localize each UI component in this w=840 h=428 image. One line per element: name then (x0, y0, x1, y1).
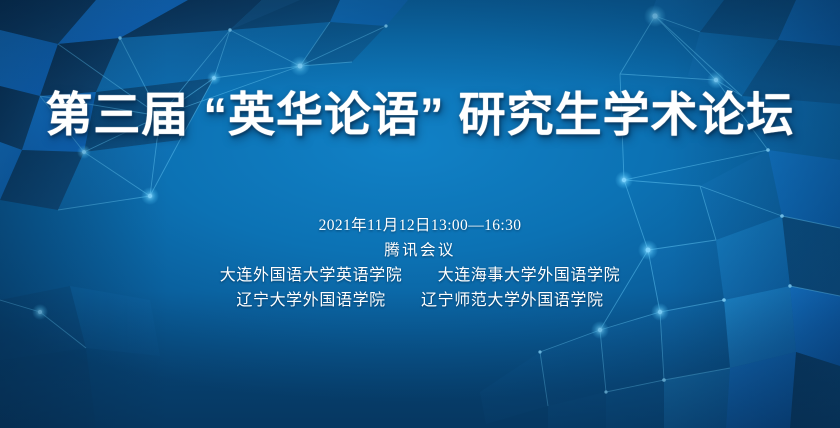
event-venue: 腾讯会议 (0, 238, 840, 263)
info-block: 2021年11月12日13:00—16:30 腾讯会议 大连外国语大学英语学院 … (0, 213, 840, 313)
organizer-left-2: 辽宁大学外国语学院 (236, 292, 385, 309)
organizer-right-1: 大连海事大学外国语学院 (438, 267, 621, 284)
title-block: 第三届 “英华论语” 研究生学术论坛 (0, 88, 840, 143)
conference-banner: 第三届 “英华论语” 研究生学术论坛 2021年11月12日13:00—16:3… (0, 0, 840, 428)
organizer-left-1: 大连外国语大学英语学院 (220, 267, 403, 284)
organizer-row-2: 辽宁大学外国语学院 辽宁师范大学外国语学院 (0, 288, 840, 313)
page-title: 第三届 “英华论语” 研究生学术论坛 (0, 88, 840, 143)
event-datetime: 2021年11月12日13:00—16:30 (0, 213, 840, 238)
organizer-right-2: 辽宁师范大学外国语学院 (421, 292, 604, 309)
organizer-row-1: 大连外国语大学英语学院 大连海事大学外国语学院 (0, 263, 840, 288)
